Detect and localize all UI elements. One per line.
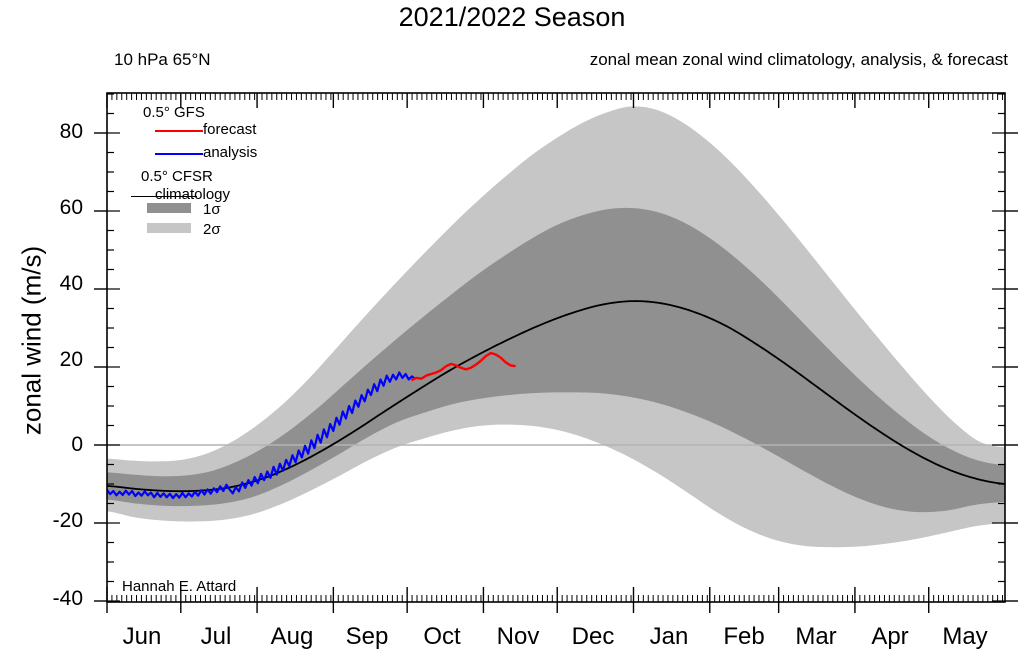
plot-area xyxy=(0,0,1024,661)
legend-swatch-analysis xyxy=(155,153,203,155)
legend-swatch-sigma2 xyxy=(147,223,191,233)
legend-label-analysis: analysis xyxy=(203,144,257,161)
legend-heading-cfsr: 0.5° CFSR xyxy=(141,168,213,185)
legend-label-forecast: forecast xyxy=(203,121,256,138)
legend-label-sigma1: 1σ xyxy=(203,201,221,218)
chart-figure: 2021/2022 Season 10 hPa 65°N zonal mean … xyxy=(0,0,1024,661)
legend-swatch-sigma1 xyxy=(147,203,191,213)
legend-swatch-forecast xyxy=(155,130,203,132)
legend-label-sigma2: 2σ xyxy=(203,221,221,238)
legend-heading-gfs: 0.5° GFS xyxy=(143,104,205,121)
